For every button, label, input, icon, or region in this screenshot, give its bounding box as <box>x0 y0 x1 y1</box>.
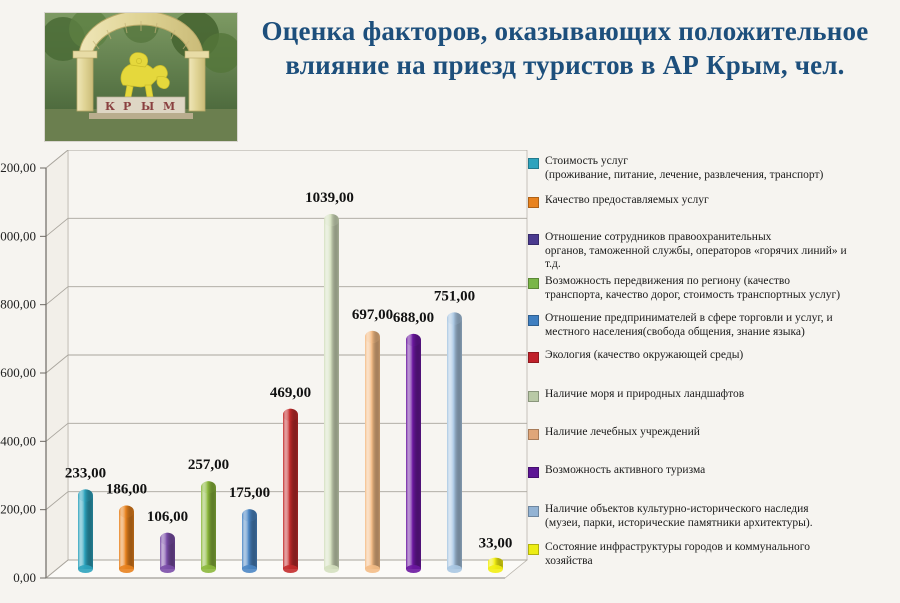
bar-value-label: 751,00 <box>434 288 475 304</box>
bar[interactable] <box>324 214 339 573</box>
bar-shading <box>78 495 93 569</box>
bar-shading <box>283 415 298 569</box>
legend-item[interactable]: Состояние инфраструктуры городов и комму… <box>528 541 897 568</box>
bar-value-label: 257,00 <box>188 457 229 473</box>
y-axis-tick-label: 0,00 <box>13 570 36 585</box>
bar-shading <box>406 340 421 569</box>
bar[interactable] <box>365 331 380 573</box>
crimea-arch-illustration: К Р Ы М <box>45 13 237 141</box>
bar[interactable] <box>488 558 503 573</box>
bar-cap-shading <box>160 533 175 545</box>
legend-label: Наличие объектов культурно-исторического… <box>545 503 897 530</box>
legend-item[interactable]: Качество предоставляемых услуг <box>528 194 897 208</box>
y-axis-tick-label: 400,00 <box>0 433 36 448</box>
legend-swatch-icon <box>528 234 539 245</box>
legend-swatch-icon <box>528 544 539 555</box>
bar-value-label: 688,00 <box>393 310 434 326</box>
legend-label: Отношение сотрудников правоохранительных… <box>545 231 897 272</box>
y-axis-tick-label: 1000,00 <box>0 228 36 243</box>
legend-swatch-icon <box>528 197 539 208</box>
bar-value-label: 186,00 <box>106 481 147 497</box>
svg-text:М: М <box>163 100 175 113</box>
bar-chart: 0,00200,00400,00600,00800,001000,001200,… <box>0 150 530 603</box>
bar-cap-shading <box>365 331 380 343</box>
bar-value-label: 233,00 <box>65 465 106 481</box>
bar[interactable] <box>406 334 421 573</box>
bar-shading <box>365 337 380 569</box>
svg-text:Р: Р <box>123 100 131 113</box>
bar-cap-shading <box>119 505 134 517</box>
bar-cap-shading <box>242 509 257 521</box>
bar-base <box>324 565 339 573</box>
bar-shading <box>201 487 216 569</box>
crimea-arch-photo: К Р Ы М <box>44 12 238 142</box>
legend-item[interactable]: Наличие объектов культурно-исторического… <box>528 503 897 530</box>
legend-label: Состояние инфраструктуры городов и комму… <box>545 541 897 568</box>
legend-swatch-icon <box>528 352 539 363</box>
legend-label: Стоимость услуг (проживание, питание, ле… <box>545 155 897 182</box>
bar-shading <box>324 220 339 569</box>
legend-label: Возможность передвижения по региону (кач… <box>545 275 897 302</box>
bar-cap-shading <box>447 312 462 324</box>
bar-base <box>447 565 462 573</box>
y-axis-tick-label: 200,00 <box>0 502 36 517</box>
bar-cap-shading <box>488 558 503 566</box>
chart-canvas: 0,00200,00400,00600,00800,001000,001200,… <box>0 150 530 603</box>
legend-item[interactable]: Отношение предпринимателей в сфере торго… <box>528 312 897 339</box>
bar-value-label: 469,00 <box>270 385 311 401</box>
legend-swatch-icon <box>528 391 539 402</box>
svg-text:К: К <box>105 100 115 113</box>
bar-cap-shading <box>406 334 421 346</box>
legend-swatch-icon <box>528 506 539 517</box>
bar-base <box>160 565 175 573</box>
bar-value-label: 33,00 <box>479 536 513 552</box>
bar-shading <box>447 318 462 569</box>
legend-label: Наличие лечебных учреждений <box>545 426 897 440</box>
bar-base <box>119 565 134 573</box>
bar[interactable] <box>160 533 175 573</box>
bar-cap-shading <box>324 214 339 226</box>
legend-swatch-icon <box>528 467 539 478</box>
bar-base <box>365 565 380 573</box>
bar-value-label: 175,00 <box>229 485 270 501</box>
legend-swatch-icon <box>528 158 539 169</box>
legend-item[interactable]: Стоимость услуг (проживание, питание, ле… <box>528 155 897 182</box>
bar-shading <box>242 515 257 569</box>
bar[interactable] <box>119 505 134 573</box>
bar-base <box>488 565 503 573</box>
bar[interactable] <box>447 312 462 573</box>
bar-base <box>406 565 421 573</box>
bar-shading <box>119 511 134 569</box>
page-title: Оценка факторов, оказывающих положительн… <box>250 14 880 82</box>
bar-value-label: 1039,00 <box>305 190 354 206</box>
legend-label: Экология (качество окружающей среды) <box>545 349 897 363</box>
slide-canvas: К Р Ы М Оценка факторов, оказывающих пол… <box>0 0 900 603</box>
legend-item[interactable]: Отношение сотрудников правоохранительных… <box>528 231 897 272</box>
bar-cap-shading <box>201 481 216 493</box>
legend-swatch-icon <box>528 278 539 289</box>
svg-text:Ы: Ы <box>141 100 154 113</box>
bar-value-label: 697,00 <box>352 307 393 323</box>
legend-label: Возможность активного туризма <box>545 464 897 478</box>
bar-value-label: 106,00 <box>147 509 188 525</box>
y-axis-tick-label: 600,00 <box>0 365 36 380</box>
y-axis-tick-label: 800,00 <box>0 297 36 312</box>
legend-swatch-icon <box>528 429 539 440</box>
bar-cap-shading <box>283 409 298 421</box>
legend-label: Отношение предпринимателей в сфере торго… <box>545 312 897 339</box>
bar-base <box>283 565 298 573</box>
y-axis-tick-label: 1200,00 <box>0 160 36 175</box>
legend-label: Качество предоставляемых услуг <box>545 194 897 208</box>
legend-item[interactable]: Экология (качество окружающей среды) <box>528 349 897 363</box>
bar-cap-shading <box>78 489 93 501</box>
bar[interactable] <box>283 409 298 573</box>
legend-label: Наличие моря и природных ландшафтов <box>545 388 897 402</box>
bar[interactable] <box>242 509 257 573</box>
bar[interactable] <box>78 489 93 573</box>
bar-base <box>201 565 216 573</box>
chart-legend: Стоимость услуг (проживание, питание, ле… <box>528 152 900 602</box>
legend-item[interactable]: Возможность передвижения по региону (кач… <box>528 275 897 302</box>
bar-base <box>242 565 257 573</box>
legend-item[interactable]: Возможность активного туризма <box>528 464 897 478</box>
legend-swatch-icon <box>528 315 539 326</box>
bar-base <box>78 565 93 573</box>
bar[interactable] <box>201 481 216 573</box>
legend-item[interactable]: Наличие моря и природных ландшафтов <box>528 388 897 402</box>
legend-item[interactable]: Наличие лечебных учреждений <box>528 426 897 440</box>
